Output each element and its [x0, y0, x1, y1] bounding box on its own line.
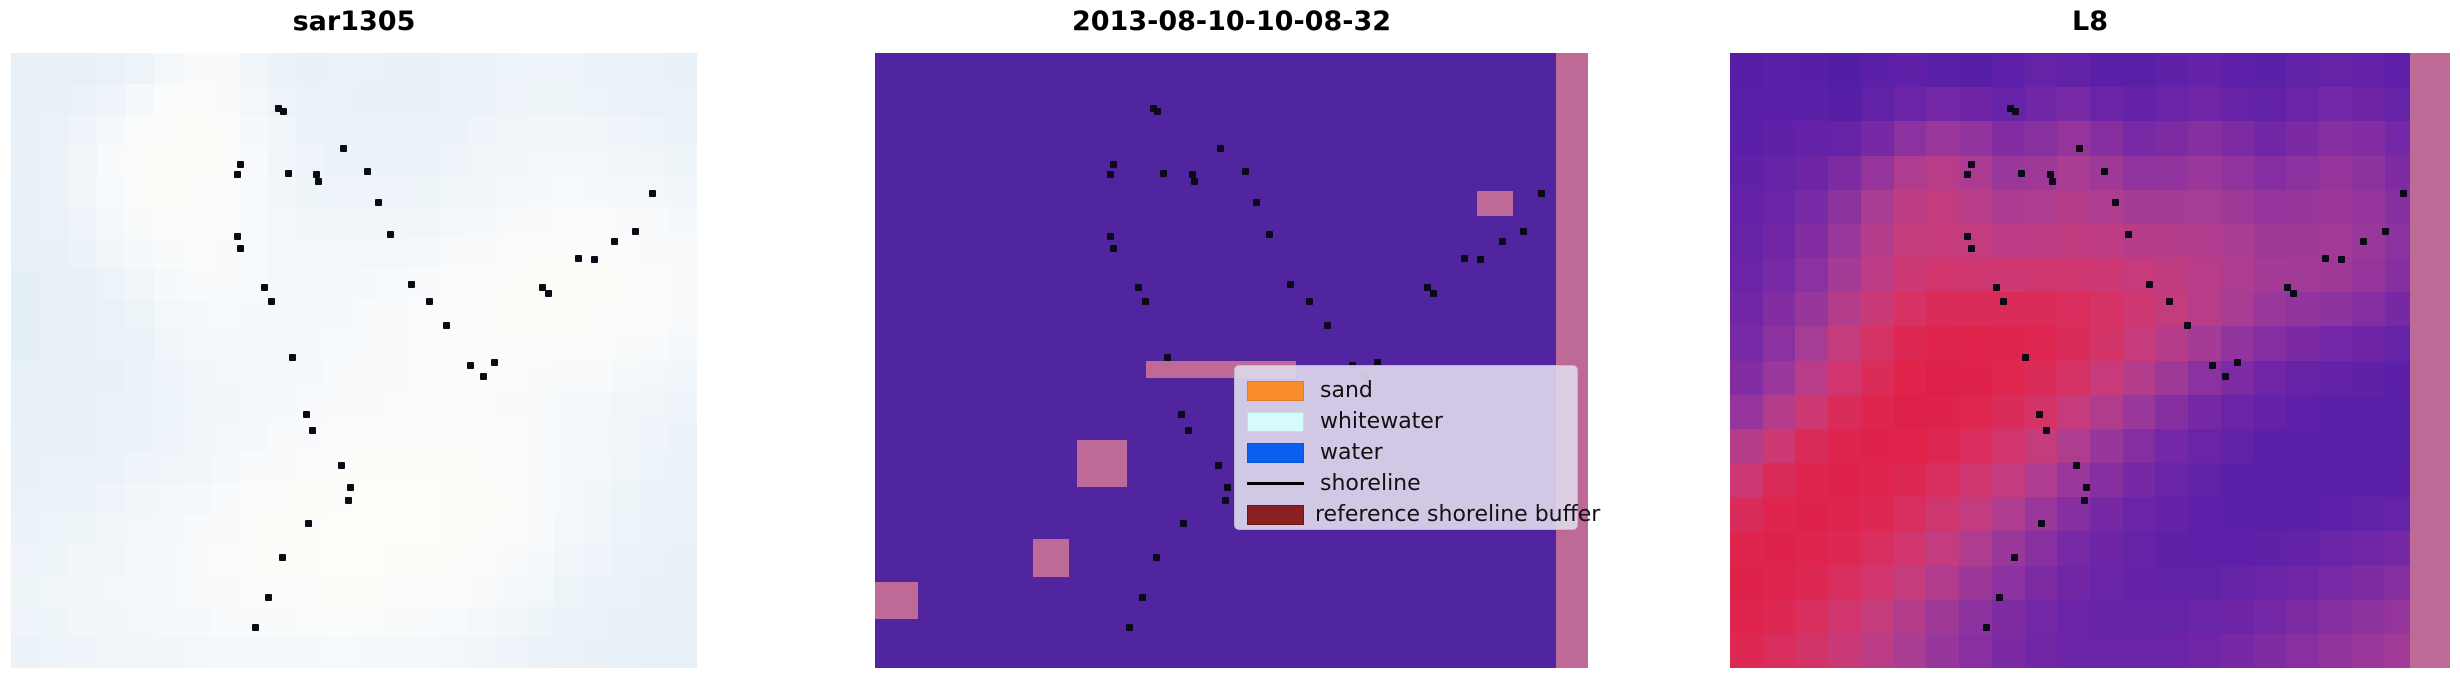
raster-cell [1730, 497, 1763, 531]
raster-cell [640, 299, 669, 330]
raster-cell [1894, 156, 1927, 190]
raster-cell [2254, 429, 2287, 463]
raster-cell [1959, 497, 1992, 531]
raster-cell [240, 84, 269, 115]
raster-cell [1926, 634, 1959, 668]
raster-cell [411, 238, 440, 269]
raster-cell [11, 607, 40, 638]
raster-cell [440, 391, 469, 422]
raster-cell [1959, 258, 1992, 292]
raster-cell [668, 53, 697, 84]
raster-cell [2352, 224, 2385, 258]
raster-cell [211, 391, 240, 422]
raster-cell [354, 453, 383, 484]
raster-cell [2286, 292, 2319, 326]
raster-cell [1992, 395, 2025, 429]
raster-cell [497, 484, 526, 515]
raster-cell [183, 484, 212, 515]
raster-cell [554, 330, 583, 361]
raster-cell [2155, 497, 2188, 531]
reference-shoreline-buffer-pixel [1077, 440, 1127, 486]
raster-cell [2090, 53, 2123, 87]
raster-cell [2123, 121, 2156, 155]
raster-cell [268, 361, 297, 392]
raster-cell [1992, 87, 2025, 121]
raster-cell [1763, 463, 1796, 497]
raster-cell [468, 637, 497, 668]
raster-cell [640, 176, 669, 207]
raster-cell [383, 453, 412, 484]
raster-cell [240, 607, 269, 638]
raster-cell [1992, 497, 2025, 531]
raster-cell [154, 484, 183, 515]
raster-cell [2090, 87, 2123, 121]
raster-cell [97, 84, 126, 115]
raster-cell [211, 607, 240, 638]
raster-cell [2254, 326, 2287, 360]
raster-cell [2286, 531, 2319, 565]
raster-cell [40, 53, 69, 84]
raster-cell [2123, 190, 2156, 224]
raster-cell [2057, 121, 2090, 155]
raster-cell [2286, 53, 2319, 87]
raster-cell [154, 514, 183, 545]
raster-cell [240, 145, 269, 176]
figure-canvas: sar1305 2013-08-10-10-08-32 L8 sandwhite… [0, 0, 2460, 681]
raster-cell [325, 484, 354, 515]
raster-cell [1894, 87, 1927, 121]
raster-cell [2254, 634, 2287, 668]
raster-cell [183, 207, 212, 238]
raster-cell [2155, 395, 2188, 429]
raster-cell [2352, 429, 2385, 463]
raster-cell [668, 391, 697, 422]
raster-cell [40, 268, 69, 299]
raster-cell [2221, 87, 2254, 121]
raster-cell [68, 576, 97, 607]
raster-cell [468, 84, 497, 115]
raster-cell [383, 207, 412, 238]
raster-cell [211, 576, 240, 607]
raster-cell [11, 391, 40, 422]
raster-cell [1926, 463, 1959, 497]
raster-cell [2286, 429, 2319, 463]
raster-cell [2319, 292, 2352, 326]
raster-cell [640, 53, 669, 84]
raster-cell [2319, 395, 2352, 429]
raster-cell [183, 115, 212, 146]
raster-cell [1992, 224, 2025, 258]
raster-cell [2155, 361, 2188, 395]
raster-cell [526, 453, 555, 484]
raster-cell [1828, 566, 1861, 600]
raster-cell [526, 607, 555, 638]
raster-cell [526, 422, 555, 453]
raster-cell [1828, 634, 1861, 668]
raster-cell [354, 207, 383, 238]
raster-cell [1992, 121, 2025, 155]
raster-cell [583, 299, 612, 330]
raster-cell [1992, 53, 2025, 87]
raster-cell [2025, 224, 2058, 258]
raster-cell [97, 576, 126, 607]
raster-cell [1926, 395, 1959, 429]
raster-cell [11, 422, 40, 453]
raster-cell [2155, 429, 2188, 463]
raster-cell [497, 115, 526, 146]
raster-cell [2057, 429, 2090, 463]
raster-cell [354, 53, 383, 84]
raster-cell [1730, 361, 1763, 395]
raster-cell [1959, 292, 1992, 326]
raster-cell [497, 607, 526, 638]
raster-cell [2254, 121, 2287, 155]
raster-cell [411, 453, 440, 484]
reference-shoreline-buffer-pixel [1477, 191, 1513, 216]
raster-grid [1730, 53, 2450, 668]
raster-cell [2221, 497, 2254, 531]
raster-cell [2057, 326, 2090, 360]
raster-cell [1894, 190, 1927, 224]
raster-cell [468, 514, 497, 545]
raster-cell [1730, 566, 1763, 600]
panel-classification [875, 53, 1588, 668]
raster-cell [611, 361, 640, 392]
raster-cell [497, 545, 526, 576]
raster-cell [411, 637, 440, 668]
raster-cell [2090, 190, 2123, 224]
raster-cell [268, 576, 297, 607]
raster-cell [68, 514, 97, 545]
raster-cell [297, 545, 326, 576]
raster-cell [1763, 53, 1796, 87]
raster-cell [11, 637, 40, 668]
raster-cell [40, 299, 69, 330]
raster-cell [2254, 497, 2287, 531]
raster-cell [183, 391, 212, 422]
raster-cell [1795, 224, 1828, 258]
raster-cell [411, 514, 440, 545]
raster-cell [383, 268, 412, 299]
raster-cell [11, 576, 40, 607]
raster-cell [1795, 497, 1828, 531]
raster-cell [668, 422, 697, 453]
raster-cell [611, 453, 640, 484]
raster-cell [2123, 361, 2156, 395]
raster-cell [526, 84, 555, 115]
raster-cell [1959, 566, 1992, 600]
raster-cell [325, 268, 354, 299]
raster-cell [268, 238, 297, 269]
raster-cell [40, 176, 69, 207]
raster-cell [2352, 531, 2385, 565]
raster-cell [97, 299, 126, 330]
raster-cell [2319, 361, 2352, 395]
raster-cell [268, 115, 297, 146]
raster-cell [1763, 326, 1796, 360]
legend-item-water: water [1247, 437, 1565, 468]
raster-cell [240, 484, 269, 515]
raster-cell [240, 514, 269, 545]
raster-cell [1992, 258, 2025, 292]
raster-cell [2057, 258, 2090, 292]
raster-cell [40, 637, 69, 668]
raster-cell [2123, 87, 2156, 121]
raster-cell [440, 607, 469, 638]
legend-label: reference shoreline buffer [1315, 504, 1600, 526]
raster-cell [1959, 463, 1992, 497]
raster-cell [1926, 361, 1959, 395]
raster-cell [440, 484, 469, 515]
raster-cell [497, 361, 526, 392]
raster-cell [468, 115, 497, 146]
raster-cell [240, 361, 269, 392]
raster-cell [354, 145, 383, 176]
raster-cell [11, 84, 40, 115]
raster-cell [325, 576, 354, 607]
raster-cell [2352, 634, 2385, 668]
raster-cell [240, 330, 269, 361]
raster-cell [183, 268, 212, 299]
raster-cell [554, 176, 583, 207]
raster-cell [2123, 566, 2156, 600]
raster-cell [640, 576, 669, 607]
raster-cell [640, 607, 669, 638]
raster-cell [640, 145, 669, 176]
raster-cell [1730, 292, 1763, 326]
raster-cell [2090, 121, 2123, 155]
raster-cell [583, 115, 612, 146]
raster-cell [554, 145, 583, 176]
raster-cell [297, 84, 326, 115]
raster-cell [2188, 190, 2221, 224]
raster-cell [97, 53, 126, 84]
raster-cell [583, 238, 612, 269]
raster-cell [2025, 531, 2058, 565]
raster-cell [11, 238, 40, 269]
raster-cell [183, 453, 212, 484]
raster-cell [154, 453, 183, 484]
raster-cell [211, 330, 240, 361]
raster-cell [97, 422, 126, 453]
raster-cell [583, 207, 612, 238]
raster-cell [97, 484, 126, 515]
raster-cell [554, 545, 583, 576]
raster-cell [383, 145, 412, 176]
panel-title-classification: 2013-08-10-10-08-32 [875, 8, 1588, 35]
raster-cell [583, 361, 612, 392]
raster-cell [2352, 600, 2385, 634]
raster-cell [668, 115, 697, 146]
raster-cell [1763, 531, 1796, 565]
raster-cell [1828, 531, 1861, 565]
raster-cell [383, 84, 412, 115]
raster-cell [2123, 531, 2156, 565]
raster-cell [1959, 224, 1992, 258]
raster-cell [1763, 121, 1796, 155]
raster-cell [268, 268, 297, 299]
raster-cell [440, 207, 469, 238]
raster-cell [40, 484, 69, 515]
raster-cell [211, 115, 240, 146]
raster-cell [2319, 326, 2352, 360]
raster-cell [1894, 566, 1927, 600]
raster-cell [640, 238, 669, 269]
raster-cell [325, 84, 354, 115]
raster-cell [1992, 531, 2025, 565]
raster-cell [68, 637, 97, 668]
raster-cell [154, 576, 183, 607]
raster-cell [125, 361, 154, 392]
raster-cell [1959, 600, 1992, 634]
raster-cell [68, 330, 97, 361]
raster-cell [411, 484, 440, 515]
raster-cell [554, 53, 583, 84]
raster-cell [383, 607, 412, 638]
raster-cell [183, 545, 212, 576]
raster-cell [640, 207, 669, 238]
raster-cell [325, 391, 354, 422]
raster-cell [1795, 634, 1828, 668]
raster-cell [468, 330, 497, 361]
raster-cell [668, 545, 697, 576]
raster-cell [325, 176, 354, 207]
legend-swatch-wrap [1247, 482, 1309, 485]
raster-cell [611, 268, 640, 299]
raster-cell [383, 545, 412, 576]
raster-cell [2025, 190, 2058, 224]
raster-cell [2286, 258, 2319, 292]
raster-cell [2286, 361, 2319, 395]
raster-cell [2155, 190, 2188, 224]
raster-cell [1730, 600, 1763, 634]
raster-cell [211, 176, 240, 207]
raster-cell [668, 361, 697, 392]
raster-cell [2221, 600, 2254, 634]
raster-cell [1959, 121, 1992, 155]
raster-cell [1795, 463, 1828, 497]
raster-cell [1828, 600, 1861, 634]
raster-cell [240, 637, 269, 668]
raster-cell [240, 238, 269, 269]
raster-cell [68, 607, 97, 638]
raster-cell [154, 238, 183, 269]
raster-cell [2090, 361, 2123, 395]
raster-cell [468, 576, 497, 607]
raster-cell [183, 607, 212, 638]
raster-cell [440, 453, 469, 484]
raster-cell [526, 115, 555, 146]
raster-cell [2352, 395, 2385, 429]
raster-cell [211, 268, 240, 299]
raster-cell [497, 514, 526, 545]
raster-cell [526, 361, 555, 392]
raster-cell [68, 299, 97, 330]
raster-cell [2090, 497, 2123, 531]
raster-cell [125, 238, 154, 269]
raster-cell [125, 53, 154, 84]
raster-cell [268, 514, 297, 545]
raster-cell [297, 576, 326, 607]
raster-cell [1992, 190, 2025, 224]
raster-cell [640, 115, 669, 146]
raster-cell [2221, 292, 2254, 326]
raster-cell [640, 453, 669, 484]
raster-cell [183, 299, 212, 330]
raster-cell [411, 84, 440, 115]
raster-cell [1763, 600, 1796, 634]
raster-cell [440, 268, 469, 299]
raster-cell [2025, 600, 2058, 634]
raster-cell [611, 637, 640, 668]
raster-cell [2188, 53, 2221, 87]
raster-cell [640, 361, 669, 392]
raster-cell [2319, 121, 2352, 155]
raster-cell [2155, 634, 2188, 668]
raster-cell [2155, 156, 2188, 190]
raster-cell [1992, 361, 2025, 395]
raster-cell [383, 484, 412, 515]
raster-cell [1894, 258, 1927, 292]
raster-cell [97, 514, 126, 545]
raster-cell [11, 453, 40, 484]
raster-cell [2319, 87, 2352, 121]
raster-cell [468, 422, 497, 453]
raster-cell [583, 637, 612, 668]
raster-cell [2254, 292, 2287, 326]
raster-cell [268, 607, 297, 638]
raster-cell [1730, 224, 1763, 258]
raster-cell [2254, 53, 2287, 87]
raster-cell [2123, 156, 2156, 190]
raster-cell [383, 391, 412, 422]
raster-cell [2352, 497, 2385, 531]
raster-cell [668, 514, 697, 545]
raster-cell [1828, 463, 1861, 497]
raster-cell [125, 576, 154, 607]
raster-cell [468, 268, 497, 299]
raster-cell [1828, 53, 1861, 87]
raster-cell [325, 299, 354, 330]
raster-cell [1795, 258, 1828, 292]
raster-cell [2221, 258, 2254, 292]
raster-cell [2057, 531, 2090, 565]
raster-cell [554, 422, 583, 453]
raster-cell [2057, 53, 2090, 87]
raster-cell [2057, 156, 2090, 190]
raster-cell [325, 330, 354, 361]
raster-cell [411, 115, 440, 146]
raster-cell [211, 238, 240, 269]
raster-cell [1894, 326, 1927, 360]
raster-cell [2155, 121, 2188, 155]
raster-cell [1992, 634, 2025, 668]
raster-cell [11, 145, 40, 176]
raster-cell [640, 330, 669, 361]
raster-cell [554, 268, 583, 299]
raster-cell [40, 453, 69, 484]
raster-cell [11, 484, 40, 515]
raster-cell [497, 637, 526, 668]
raster-cell [497, 330, 526, 361]
raster-cell [2155, 326, 2188, 360]
raster-cell [40, 607, 69, 638]
raster-cell [2352, 292, 2385, 326]
raster-cell [611, 330, 640, 361]
raster-cell [1730, 156, 1763, 190]
raster-cell [383, 176, 412, 207]
raster-cell [1828, 395, 1861, 429]
